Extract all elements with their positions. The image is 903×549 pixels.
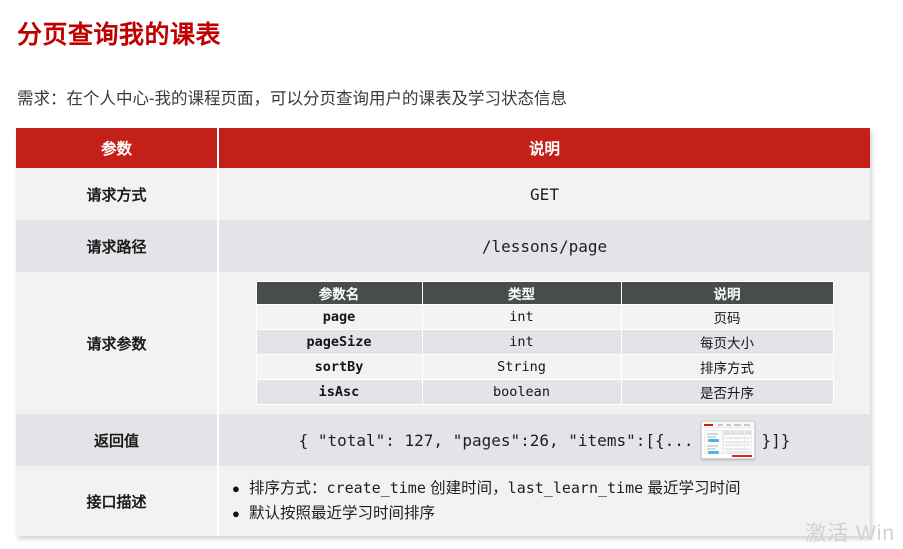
bullet-icon: ●: [232, 501, 240, 526]
value-request-method: GET: [218, 168, 870, 220]
table-row-return-value: 返回值 { "total": 127, "pages":26, "items":…: [16, 414, 870, 466]
params-table-wrapper: 参数名 类型 说明 page int 页码: [219, 275, 870, 411]
table-row-request-params: 请求参数 参数名 类型 说明: [16, 272, 870, 414]
desc-mid: 创建时间，: [426, 480, 508, 497]
table-row-request-path: 请求路径 /lessons/page: [16, 220, 870, 272]
desc-mono-last-learn-time: last_learn_time: [508, 479, 643, 497]
params-header-type: 类型: [423, 282, 621, 304]
list-item: ●默认按照最近学习时间排序: [249, 501, 870, 526]
label-request-path: 请求路径: [16, 220, 218, 272]
result-screenshot-thumbnail-icon: [701, 421, 755, 459]
desc-prefix: 默认按照最近学习时间排序: [249, 505, 435, 522]
params-header-desc: 说明: [622, 282, 833, 304]
label-interface-description: 接口描述: [16, 466, 218, 536]
param-name: isAsc: [257, 380, 422, 404]
param-type: String: [423, 355, 621, 379]
value-return-value: { "total": 127, "pages":26, "items":[{..…: [218, 414, 870, 466]
param-name: sortBy: [257, 355, 422, 379]
label-return-value: 返回值: [16, 414, 218, 466]
slide-page: 分页查询我的课表 需求：在个人中心-我的课程页面，可以分页查询用户的课表及学习状…: [0, 0, 903, 549]
param-desc: 每页大小: [622, 330, 833, 354]
return-value-line: { "total": 127, "pages":26, "items":[{..…: [219, 421, 870, 459]
params-table-row: sortBy String 排序方式: [257, 355, 833, 379]
param-name: pageSize: [257, 330, 422, 354]
table-row-request-method: 请求方式 GET: [16, 168, 870, 220]
params-table-header-row: 参数名 类型 说明: [257, 282, 833, 304]
param-desc: 是否升序: [622, 380, 833, 404]
desc-prefix: 排序方式：: [249, 480, 327, 497]
description-list: ●排序方式：create_time 创建时间，last_learn_time 最…: [219, 476, 870, 526]
params-table-row: pageSize int 每页大小: [257, 330, 833, 354]
header-description: 说明: [218, 128, 870, 168]
param-type: boolean: [423, 380, 621, 404]
param-type: int: [423, 330, 621, 354]
list-item: ●排序方式：create_time 创建时间，last_learn_time 最…: [249, 476, 870, 501]
params-table: 参数名 类型 说明 page int 页码: [256, 281, 834, 405]
desc-suffix: 最近学习时间: [643, 480, 740, 497]
requirement-text: 需求：在个人中心-我的课程页面，可以分页查询用户的课表及学习状态信息: [17, 85, 567, 109]
param-desc: 排序方式: [622, 355, 833, 379]
page-title: 分页查询我的课表: [17, 15, 221, 51]
value-interface-description: ●排序方式：create_time 创建时间，last_learn_time 最…: [218, 466, 870, 536]
api-table-header-row: 参数 说明: [16, 128, 870, 168]
param-desc: 页码: [622, 305, 833, 329]
header-param: 参数: [16, 128, 218, 168]
value-request-path: /lessons/page: [218, 220, 870, 272]
params-table-row: page int 页码: [257, 305, 833, 329]
bullet-icon: ●: [232, 476, 240, 501]
label-request-params: 请求参数: [16, 272, 218, 414]
param-name: page: [257, 305, 422, 329]
params-header-name: 参数名: [257, 282, 422, 304]
table-row-interface-description: 接口描述 ●排序方式：create_time 创建时间，last_learn_t…: [16, 466, 870, 536]
return-json-suffix: }]}: [762, 431, 791, 450]
label-request-method: 请求方式: [16, 168, 218, 220]
desc-mono-create-time: create_time: [327, 479, 426, 497]
param-type: int: [423, 305, 621, 329]
api-spec-table: 参数 说明 请求方式 GET 请求路径 /lessons/page 请求参数: [16, 128, 870, 536]
params-table-row: isAsc boolean 是否升序: [257, 380, 833, 404]
value-request-params: 参数名 类型 说明 page int 页码: [218, 272, 870, 414]
return-json-prefix: { "total": 127, "pages":26, "items":[{..…: [299, 431, 694, 450]
